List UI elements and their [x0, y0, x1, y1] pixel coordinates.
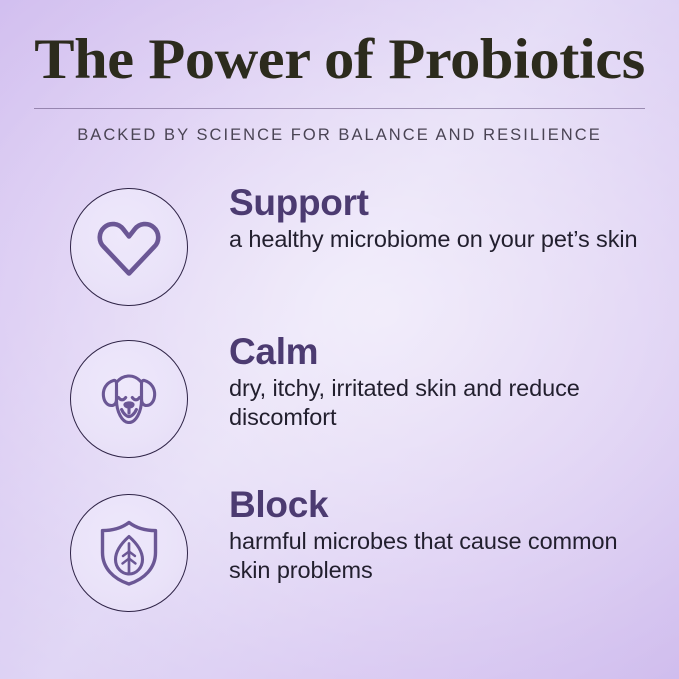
list-item: Block harmful microbes that cause common…	[0, 481, 679, 631]
poster-header: The Power of Probiotics BACKED BY SCIENC…	[0, 0, 679, 145]
benefit-heading: Support	[229, 184, 659, 222]
page-title: The Power of Probiotics	[0, 0, 679, 88]
icon-circle	[70, 494, 188, 612]
benefit-icon-calm	[70, 340, 188, 458]
benefit-text-support: Support a healthy microbiome on your pet…	[229, 184, 659, 254]
benefit-heading: Calm	[229, 333, 659, 371]
benefit-body: dry, itchy, irritated skin and reduce di…	[229, 371, 659, 432]
benefit-text-calm: Calm dry, itchy, irritated skin and redu…	[229, 333, 659, 432]
list-item: Calm dry, itchy, irritated skin and redu…	[0, 331, 679, 481]
probiotics-infographic: The Power of Probiotics BACKED BY SCIENC…	[0, 0, 679, 679]
benefit-heading: Block	[229, 486, 659, 524]
shield-leaf-icon	[96, 517, 162, 589]
benefit-icon-support	[70, 188, 188, 306]
heart-icon	[95, 216, 163, 278]
benefit-icon-block	[70, 494, 188, 612]
benefit-body: a healthy microbiome on your pet’s skin	[229, 222, 659, 254]
icon-circle	[70, 340, 188, 458]
icon-circle	[70, 188, 188, 306]
list-item: Support a healthy microbiome on your pet…	[0, 173, 679, 331]
benefit-text-block: Block harmful microbes that cause common…	[229, 486, 659, 585]
benefit-list: Support a healthy microbiome on your pet…	[0, 173, 679, 631]
sleeping-dog-face-icon	[94, 366, 164, 432]
header-divider	[34, 108, 645, 109]
benefit-body: harmful microbes that cause common skin …	[229, 524, 659, 585]
page-subtitle: BACKED BY SCIENCE FOR BALANCE AND RESILI…	[0, 109, 679, 145]
